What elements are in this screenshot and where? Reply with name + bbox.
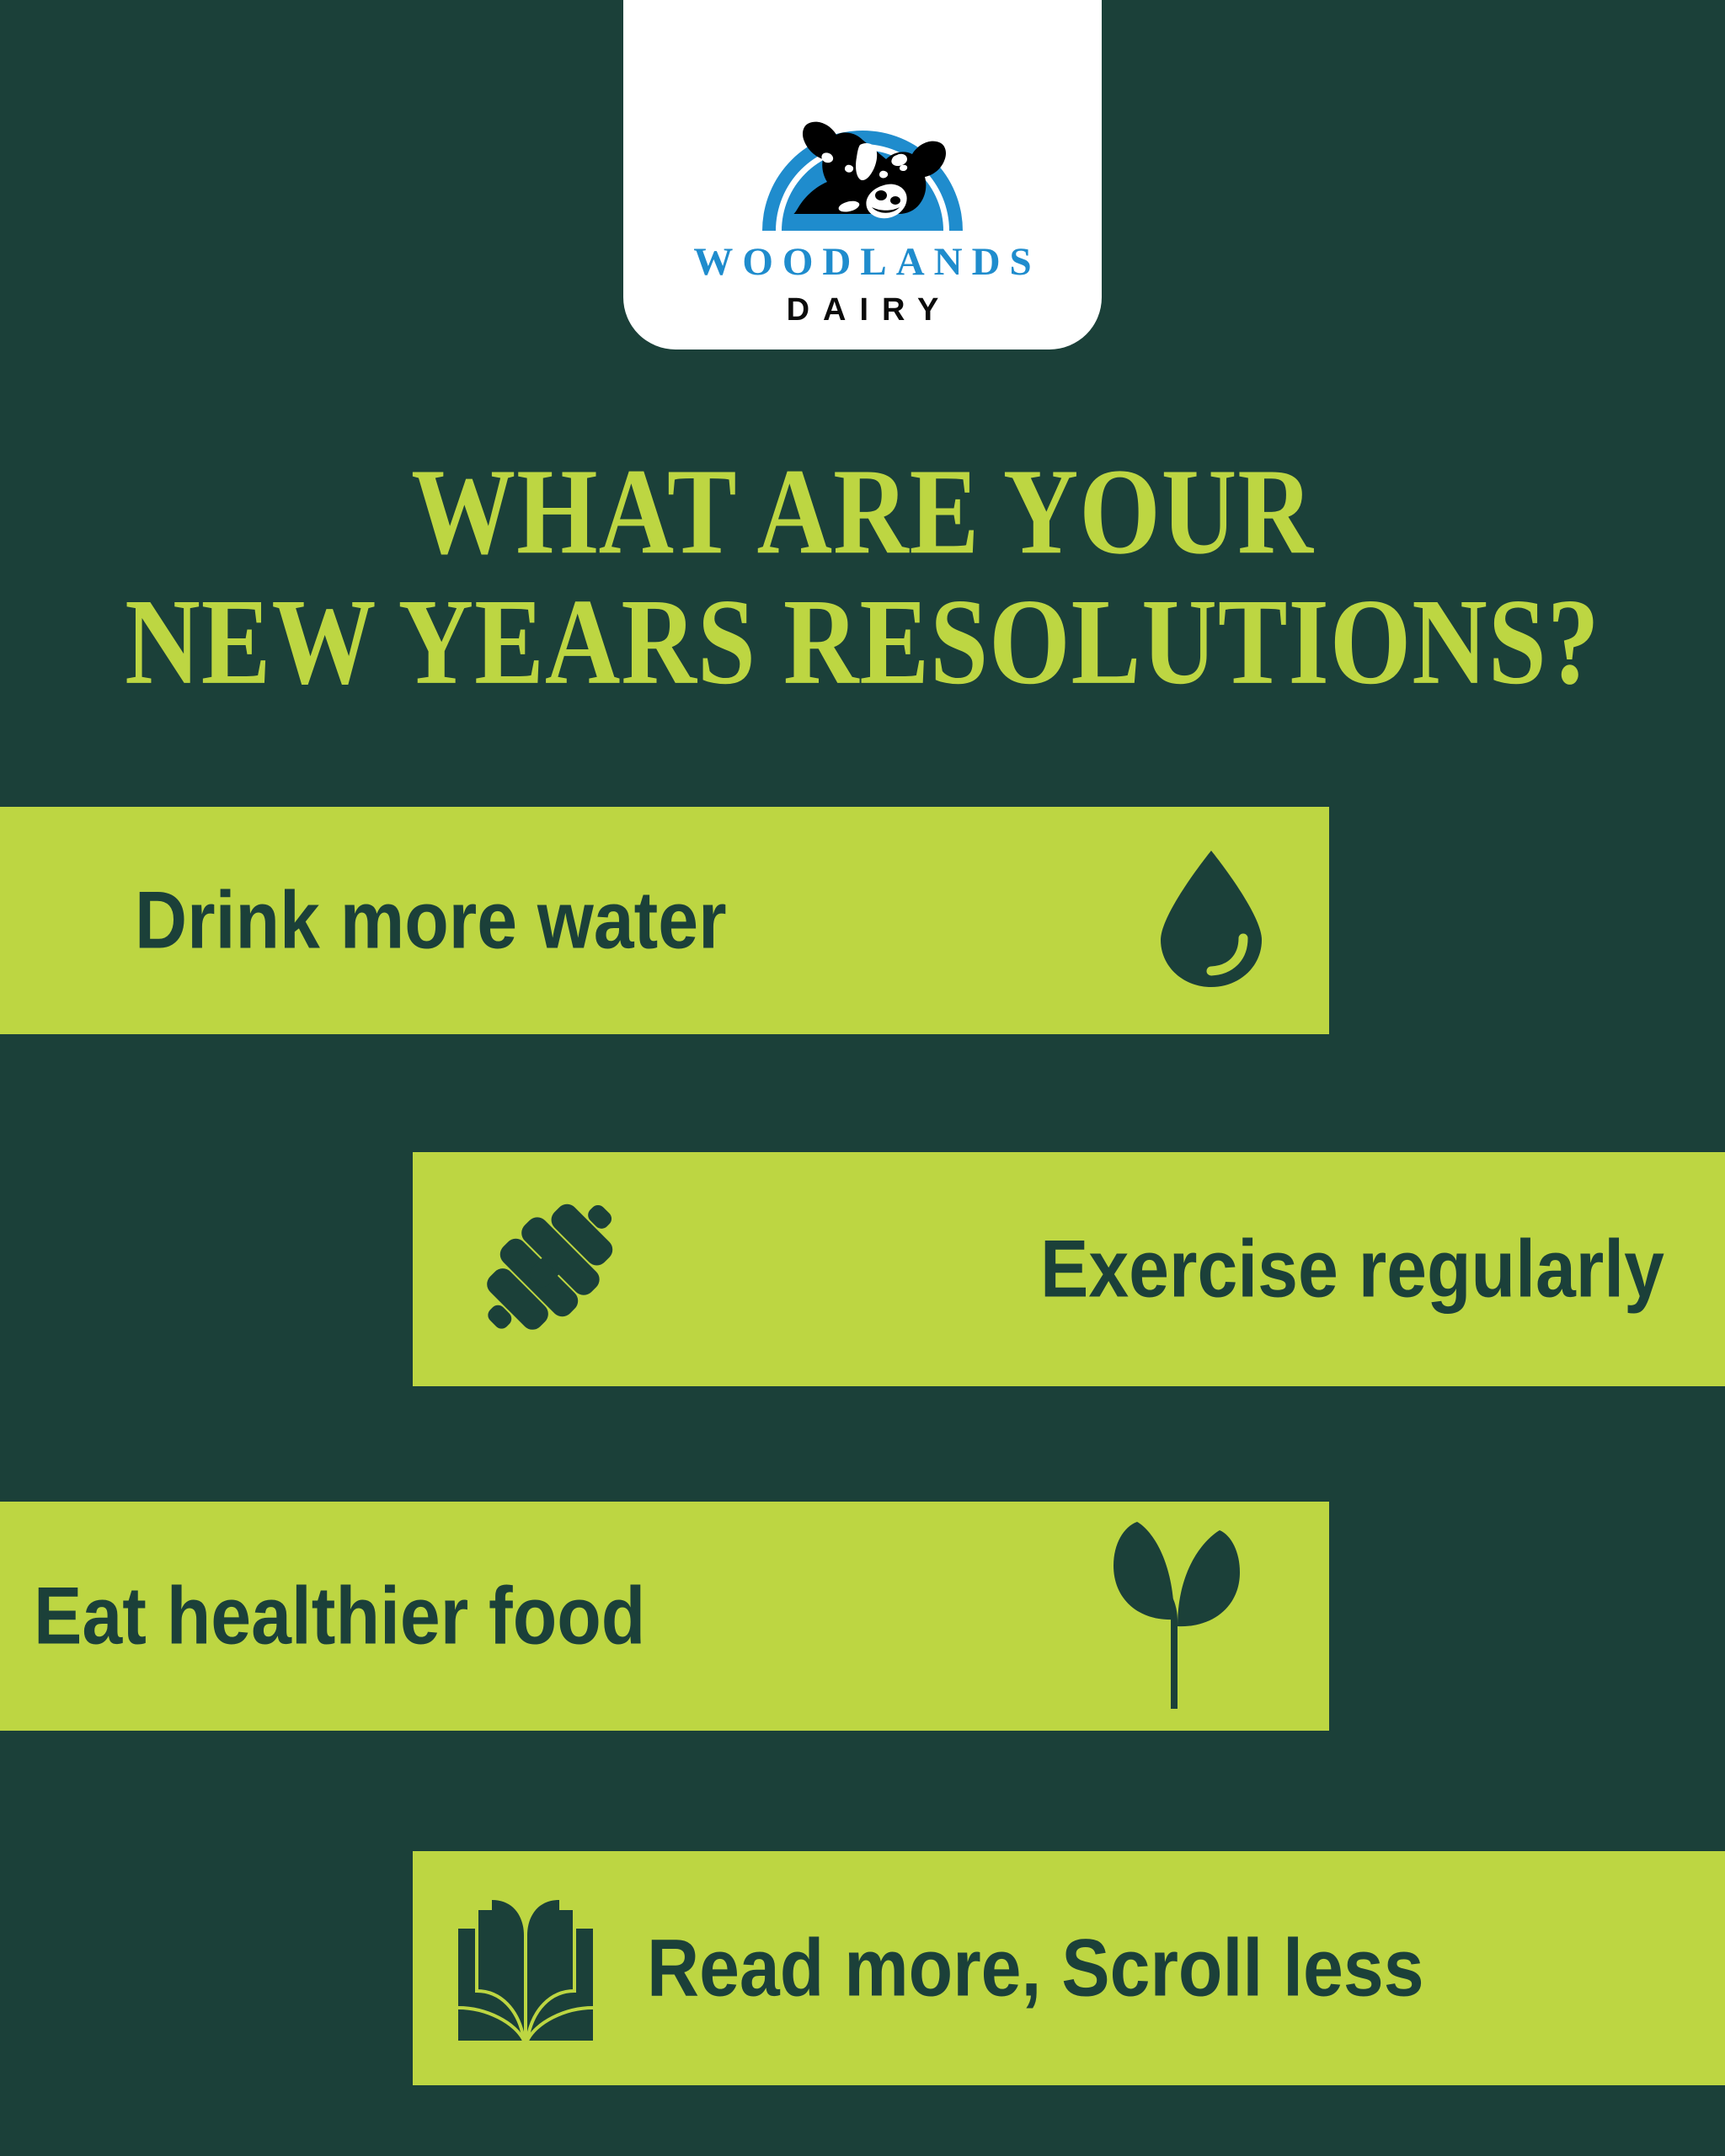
- dumbbell-icon: [465, 1183, 633, 1356]
- resolution-item-drink-more-water: Drink more water: [0, 807, 1329, 1034]
- page-title-line-2: NEW YEARS RESOLUTIONS?: [0, 577, 1725, 707]
- water-drop-icon: [1156, 847, 1267, 995]
- brand-wordmark: WOODLANDS: [684, 243, 1040, 282]
- resolution-label: Exercise regularly: [1040, 1229, 1664, 1310]
- resolution-item-exercise-regularly: Exercise regularly: [413, 1152, 1725, 1386]
- resolution-label: Read more, Scroll less: [647, 1928, 1424, 2009]
- page-title: WHAT ARE YOUR NEW YEARS RESOLUTIONS?: [0, 446, 1725, 707]
- resolution-label: Drink more water: [135, 880, 727, 961]
- open-book-icon: [455, 1892, 596, 2046]
- page-title-line-1: WHAT ARE YOUR: [0, 446, 1725, 577]
- brand-subword: DAIRY: [773, 294, 953, 326]
- resolution-item-read-more-scroll-less: Read more, Scroll less: [413, 1851, 1725, 2085]
- resolution-item-eat-healthier-food: Eat healthier food: [0, 1502, 1329, 1731]
- resolution-label: Eat healthier food: [34, 1576, 645, 1657]
- sprout-icon: [1100, 1518, 1248, 1715]
- brand-logo-card: WOODLANDS DAIRY: [623, 0, 1102, 350]
- cow-head-icon: [757, 108, 968, 231]
